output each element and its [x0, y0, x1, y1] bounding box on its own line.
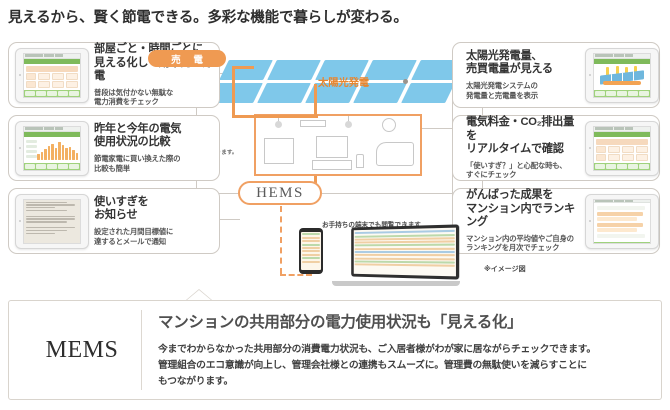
callout-title: 使いすぎを お知らせ: [94, 196, 214, 223]
app-toolbar: [594, 163, 650, 170]
tablet-screen-room-time: [23, 53, 81, 98]
room-interior: [254, 114, 422, 176]
plant-icon: [356, 154, 364, 168]
callout-text-overuse-alert: 使いすぎを お知らせ 設定された月間目標値に 達するとメールで通知: [89, 196, 219, 247]
callout-sub-line2: 電力消費をチェック: [94, 97, 214, 107]
ceiling-lamp-icon: [348, 116, 349, 122]
app-content-solar: [594, 64, 650, 90]
callout-sub-line1: 設定された月間目標値に: [94, 227, 214, 237]
mems-logo: MEMS: [23, 337, 141, 364]
table-header-row: [596, 139, 648, 145]
smartphone-device: [299, 228, 323, 274]
callout-sub-line2: 比較も簡単: [94, 164, 214, 174]
callout-year-compare[interactable]: 昨年と今年の電気 使用状況の比較 節電家電に買い換えた際の 比較も簡単: [8, 115, 220, 181]
center-illustration: 売 電 太陽光発電 HEMS お手持ちの: [196, 36, 482, 282]
callout-subtitle: 設定された月間目標値に 達するとメールで通知: [94, 227, 214, 246]
mems-title: マンションの共用部分の電力使用状況も「見える化」: [158, 310, 647, 332]
tablet-screen-year-compare: [23, 126, 81, 171]
table-row: [26, 73, 78, 80]
callout-text-realtime-cost: 電気料金・CO₂排出量を リアルタイムで確認 「使いすぎ？」と心配な時も、 すぐ…: [461, 116, 585, 180]
tv-cabinet-icon: [312, 160, 352, 170]
laptop-screen: [351, 224, 459, 279]
callout-title: がんばった成果を マンション内でランキング: [466, 189, 580, 230]
tablet-device-solar-output: [585, 48, 659, 103]
kitchen-counter-icon: [264, 138, 294, 164]
app-toolbar: [24, 163, 80, 170]
page-headline: 見えるから、賢く節電できる。多彩な機能で暮らしが変わる。: [8, 6, 408, 27]
dashed-link-horizontal: [280, 274, 312, 276]
node-dot-solar: [403, 79, 408, 84]
table-row: [26, 81, 78, 88]
callout-sub-line1: 普段は気付かない無駄な: [94, 88, 214, 98]
laptop-base: [332, 281, 460, 286]
solar-panel-cell: [219, 60, 273, 80]
callout-sub-line1: マンション内の平均値やご自身の: [466, 234, 580, 244]
callout-title: 昨年と今年の電気 使用状況の比較: [94, 123, 214, 150]
tablet-screen-realtime-cost: [593, 126, 651, 171]
tablet-screen-overuse-alert: [23, 199, 81, 244]
callout-realtime-cost[interactable]: 電気料金・CO₂排出量を リアルタイムで確認 「使いすぎ？」と心配な時も、 すぐ…: [452, 115, 660, 181]
solar-illustration: [596, 66, 648, 88]
bar-chart-mock: [37, 141, 78, 160]
callout-title-line1: 電気料金・CO₂排出量を: [466, 116, 580, 143]
callout-subtitle: 「使いすぎ？」と心配な時も、 すぐにチェック: [466, 161, 580, 180]
tablet-device-realtime-cost: [585, 121, 659, 176]
cost-table-mock: [596, 139, 648, 161]
mems-callout-tip: [186, 289, 212, 300]
tablet-device-ranking: [585, 194, 659, 249]
callout-sub-line1: 太陽光発電システムの: [466, 81, 580, 91]
callout-title-line2: 売買電量が見える: [466, 63, 580, 77]
hems-badge: HEMS: [238, 181, 322, 205]
dashed-link-vertical: [280, 206, 282, 274]
usage-table-mock: [26, 66, 78, 88]
solar-panel-cell: [401, 83, 455, 103]
email-mock: [24, 200, 80, 243]
mems-box: MEMS マンションの共用部分の電力使用状況も「見える化」 今までわからなかった…: [8, 300, 662, 400]
sofa-person-icon: [376, 142, 414, 166]
chart-legend-mock: [26, 140, 37, 158]
app-content-ranking: [594, 203, 650, 242]
callout-title-line2: マンション内でランキング: [466, 203, 580, 230]
callout-title-line1: 昨年と今年の電気: [94, 123, 214, 137]
app-content-table: [24, 64, 80, 90]
smartphone-screen: [301, 232, 321, 270]
diagram-stage: 部屋ごと・時間ごとに 見える化して効率的に節電 普段は気付かない無駄な 電力消費…: [0, 36, 670, 282]
callout-title-line2: 使用状況の比較: [94, 136, 214, 150]
callout-subtitle: マンション内の平均値やご自身の ランキングを月次でチェック: [466, 234, 580, 253]
callout-sub-line2: 発電量と売電量を表示: [466, 91, 580, 101]
table-header-row: [26, 66, 78, 72]
app-content-table: [594, 137, 650, 163]
callout-sub-line2: 達するとメールで通知: [94, 237, 214, 247]
label-solar-generation: 太陽光発電: [318, 74, 369, 89]
callout-sub-line1: 「使いすぎ？」と心配な時も、: [466, 161, 580, 171]
mems-para-line1: 今までわからなかった共用部分の消費電力状況も、ご入居者様がわが家に居ながらチェッ…: [158, 342, 647, 358]
callout-sub-line2: ランキングを月次でチェック: [466, 243, 580, 253]
callout-subtitle: 普段は気付かない無駄な 電力消費をチェック: [94, 88, 214, 107]
callout-title-line2: お知らせ: [94, 209, 214, 223]
callout-title: 電気料金・CO₂排出量を リアルタイムで確認: [466, 116, 580, 157]
callout-sub-line2: すぐにチェック: [466, 170, 580, 180]
note-image-disclaimer: ※イメージ図: [484, 264, 526, 274]
callout-title-line1: がんばった成果を: [466, 189, 580, 203]
ranking-list-mock: [596, 205, 648, 240]
tablet-device-year-compare: [15, 121, 89, 176]
mems-para-line3: もつながります。: [158, 374, 647, 390]
solar-panel-cell: [267, 60, 321, 80]
laptop-screen-content: [354, 228, 456, 277]
callout-overuse-alert[interactable]: 使いすぎを お知らせ 設定された月間目標値に 達するとメールで通知: [8, 188, 220, 254]
app-toolbar: [594, 242, 650, 244]
ceiling-light-bar: [300, 120, 326, 127]
app-content-chart: [24, 137, 80, 163]
tv-screen-icon: [316, 136, 348, 158]
solar-panel-cell: [363, 60, 417, 80]
callout-text-year-compare: 昨年と今年の電気 使用状況の比較 節電家電に買い換えた際の 比較も簡単: [89, 123, 219, 174]
wire-sell-vertical: [232, 66, 235, 118]
callout-sub-line1: 節電家電に買い換えた際の: [94, 154, 214, 164]
tablet-screen-solar-output: [593, 53, 651, 98]
callout-ranking[interactable]: がんばった成果を マンション内でランキング マンション内の平均値やご自身の ラン…: [452, 188, 660, 254]
wire-solar-vertical: [314, 84, 317, 118]
mems-para-line2: 管理組合のエコ意識が向上し、管理会社様との連携もスムーズに。管理費の無駄使いを減…: [158, 358, 647, 374]
tablet-screen-ranking: [593, 199, 651, 244]
callout-subtitle: 節電家電に買い換えた際の 比較も簡単: [94, 154, 214, 173]
callout-text-solar-output: 太陽光発電量、 売買電量が見える 太陽光発電システムの 発電量と売電量を表示: [461, 50, 585, 101]
callout-text-ranking: がんばった成果を マンション内でランキング マンション内の平均値やご自身の ラン…: [461, 189, 585, 253]
solar-value-bar: [603, 81, 640, 85]
wire-room-top: [232, 115, 318, 118]
callout-solar-output[interactable]: 太陽光発電量、 売買電量が見える 太陽光発電システムの 発電量と売電量を表示: [452, 42, 660, 108]
tablet-device-room-time: [15, 48, 89, 103]
badge-sell-power: 売 電: [148, 50, 226, 67]
mems-paragraph: 今までわからなかった共用部分の消費電力状況も、ご入居者様がわが家に居ながらチェッ…: [158, 342, 647, 390]
callout-title-line1: 太陽光発電量、: [466, 50, 580, 64]
callout-subtitle: 太陽光発電システムの 発電量と売電量を表示: [466, 81, 580, 100]
app-toolbar: [24, 90, 80, 97]
callout-title: 太陽光発電量、 売買電量が見える: [466, 50, 580, 77]
table-row: [596, 146, 648, 153]
solar-panel-cell: [257, 83, 311, 103]
app-toolbar: [594, 90, 650, 97]
mems-body: マンションの共用部分の電力使用状況も「見える化」 今までわからなかった共用部分の…: [141, 310, 647, 390]
tablet-device-overuse-alert: [15, 194, 89, 249]
callout-title-line1: 使いすぎを: [94, 196, 214, 210]
laptop-device: [332, 226, 460, 286]
table-row: [596, 154, 648, 161]
callout-title-line2: リアルタイムで確認: [466, 143, 580, 157]
mems-section: MEMS マンションの共用部分の電力使用状況も「見える化」 今までわからなかった…: [8, 300, 662, 400]
wire-sell-horizontal: [232, 66, 254, 69]
air-conditioner-icon: [382, 118, 396, 132]
